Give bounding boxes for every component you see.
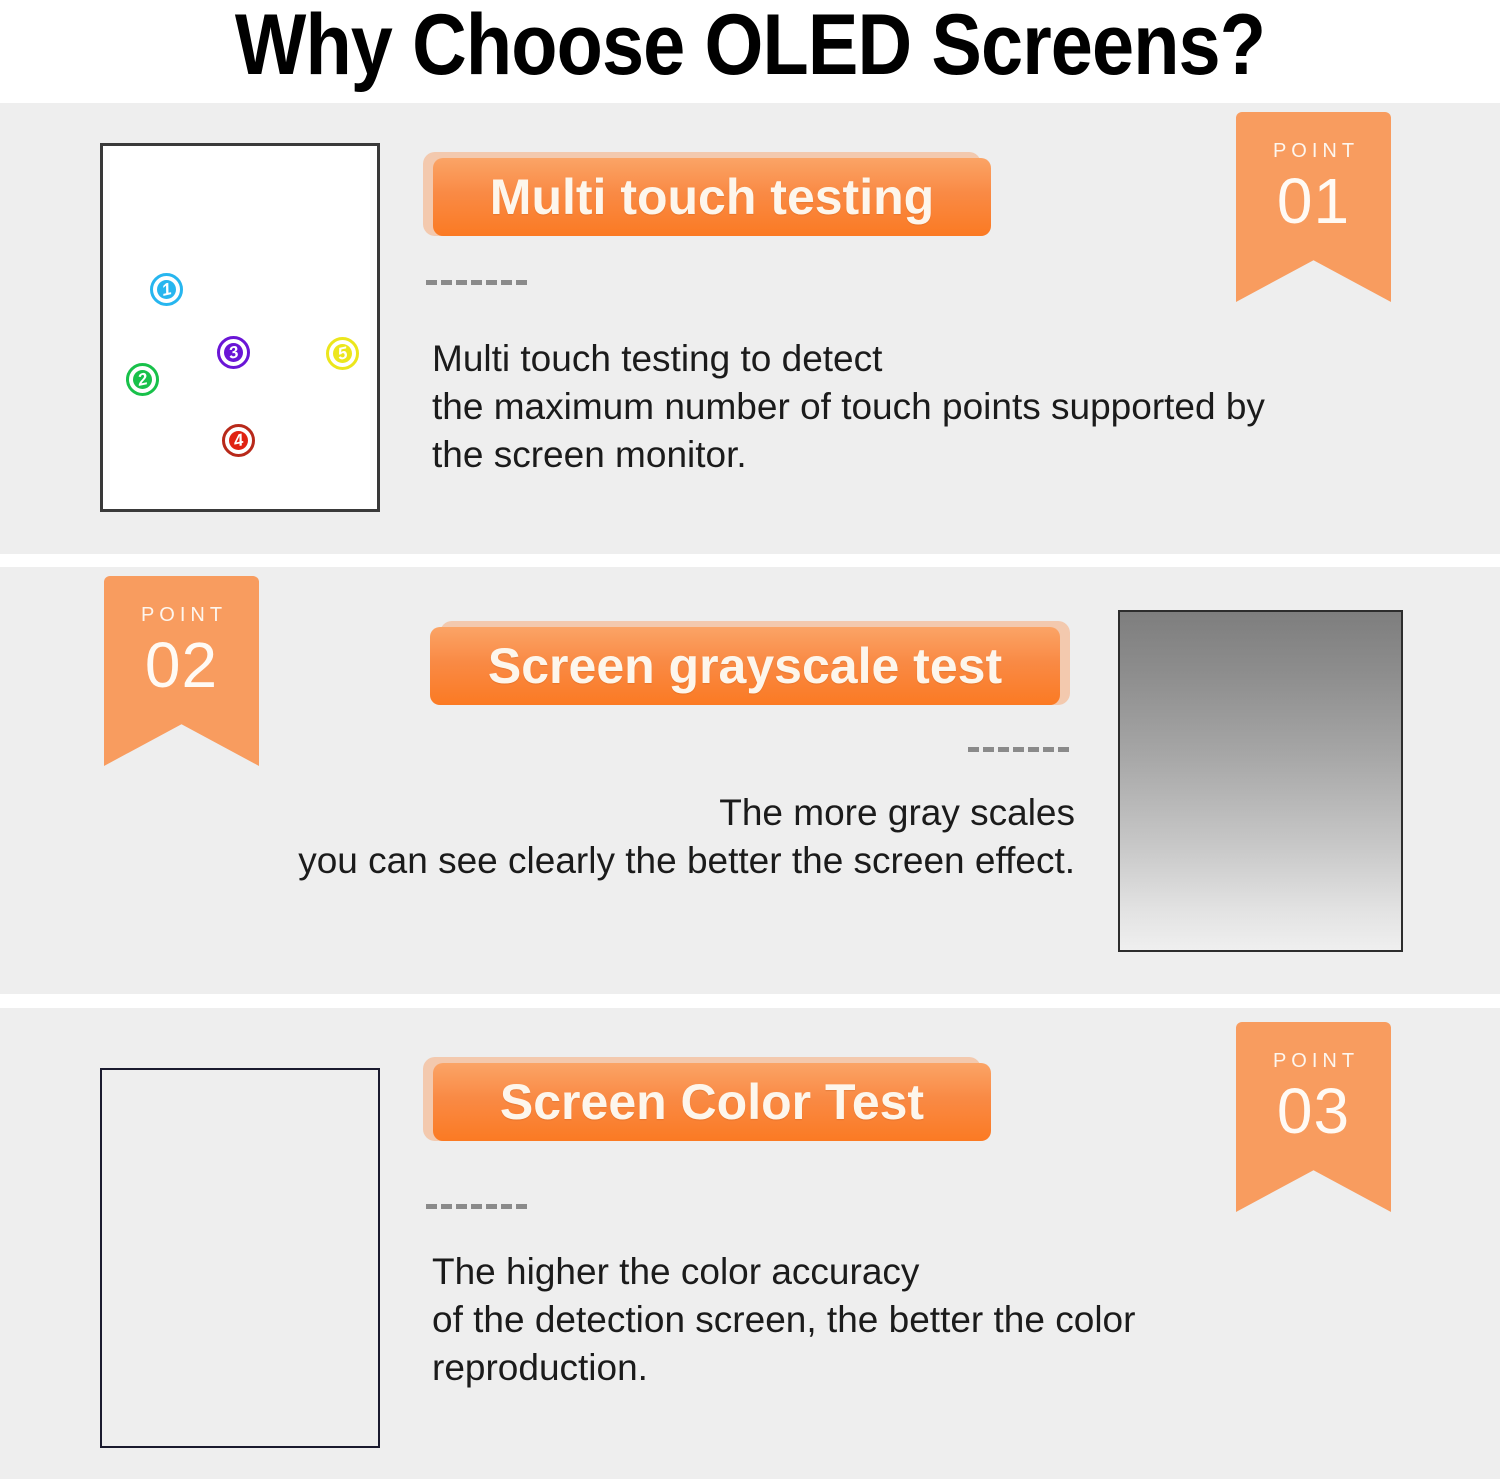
touch-point-1: 1 — [150, 273, 183, 306]
section-1-divider — [426, 280, 530, 285]
touch-point-3: 3 — [217, 336, 250, 369]
grayscale-gradient-panel — [1118, 610, 1403, 952]
section-title: Screen Color Test — [433, 1073, 991, 1131]
pill-body: Multi touch testing — [433, 158, 991, 236]
section-3-title-pill[interactable]: Screen Color Test — [433, 1063, 991, 1141]
touch-point-5: 5 — [326, 337, 359, 370]
multi-touch-panel: 1 2 3 4 5 — [100, 143, 380, 512]
header: Why Choose OLED Screens? — [0, 0, 1500, 103]
section-2-title-pill[interactable]: Screen grayscale test — [430, 627, 1060, 705]
ribbon-number: 03 — [1236, 1075, 1391, 1147]
section-3-body: The higher the color accuracy of the det… — [432, 1248, 1192, 1392]
section-2-body: The more gray scales you can see clearly… — [230, 789, 1075, 885]
point-ribbon-01: POINT 01 — [1236, 112, 1391, 302]
color-gradient-panel — [100, 1068, 380, 1448]
point-ribbon-03: POINT 03 — [1236, 1022, 1391, 1212]
touch-point-2: 2 — [126, 363, 159, 396]
ribbon-number: 02 — [104, 629, 259, 701]
ribbon-label: POINT — [1236, 140, 1391, 163]
pill-body: Screen grayscale test — [430, 627, 1060, 705]
section-2-divider — [968, 747, 1072, 752]
section-title: Screen grayscale test — [430, 637, 1060, 695]
section-3-divider — [426, 1204, 530, 1209]
section-title: Multi touch testing — [433, 168, 991, 226]
ribbon-label: POINT — [104, 604, 259, 627]
page-title: Why Choose OLED Screens? — [90, 0, 1410, 97]
section-1-body: Multi touch testing to detect the maximu… — [432, 335, 1272, 479]
section-2: POINT 02 Screen grayscale test The more … — [0, 567, 1500, 994]
section-3: Screen Color Test The higher the color a… — [0, 1008, 1500, 1479]
infographic-page: Why Choose OLED Screens? 1 2 3 4 5 — [0, 0, 1500, 1479]
ribbon-number: 01 — [1236, 165, 1391, 237]
touch-point-4: 4 — [222, 424, 255, 457]
section-1: 1 2 3 4 5 Multi touch testing — [0, 103, 1500, 554]
ribbon-label: POINT — [1236, 1050, 1391, 1073]
point-ribbon-02: POINT 02 — [104, 576, 259, 766]
pill-body: Screen Color Test — [433, 1063, 991, 1141]
section-1-title-pill[interactable]: Multi touch testing — [433, 158, 991, 236]
